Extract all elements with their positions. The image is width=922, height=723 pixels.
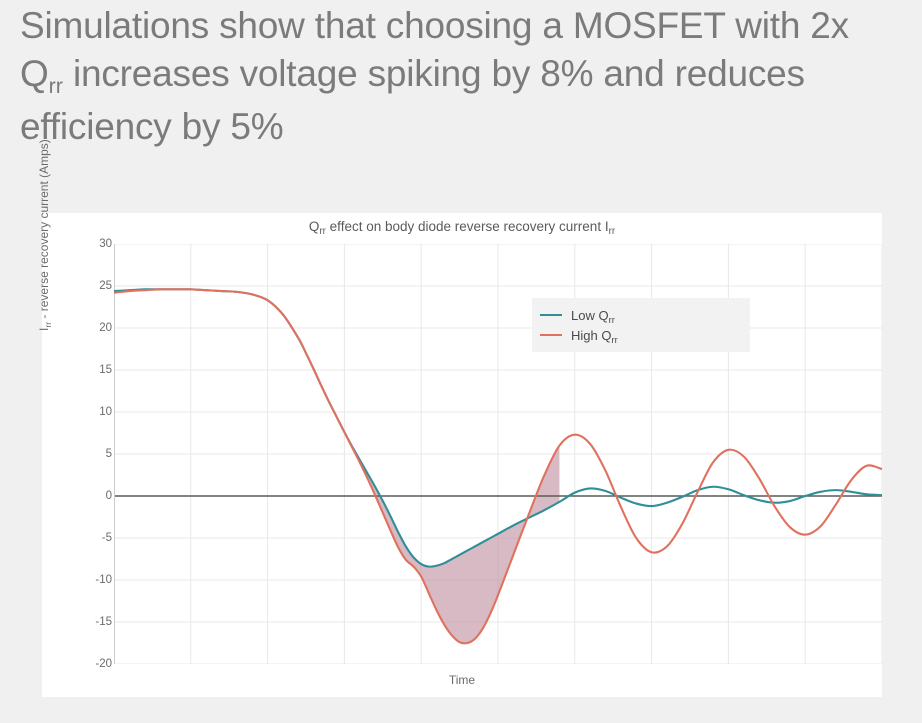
chart-title-part-1: Q xyxy=(309,219,320,234)
y-tick-label: 0 xyxy=(70,490,112,502)
y-axis-label-subscript-rr: rr xyxy=(43,322,53,328)
chart-title-subscript-rr-1: rr xyxy=(319,226,325,237)
y-tick-label: 10 xyxy=(70,406,112,418)
y-tick-label: -10 xyxy=(70,574,112,586)
page-title: Simulations show that choosing a MOSFET … xyxy=(20,2,900,151)
legend-swatch-low-qrr xyxy=(540,314,562,316)
legend-label-high-qrr-subscript: rr xyxy=(611,335,617,345)
chart-title: Qrr effect on body diode reverse recover… xyxy=(42,219,882,234)
headline-text-part-2: increases voltage spiking by 8% and redu… xyxy=(20,53,805,147)
y-axis-label: Irr - reverse recovery current (Amps) xyxy=(37,31,51,331)
legend-item-low-qrr[interactable]: Low Qrr xyxy=(540,305,740,325)
y-tick-label: -15 xyxy=(70,616,112,628)
chart-title-subscript-rr-2: rr xyxy=(609,226,615,237)
plot-area xyxy=(114,244,882,664)
chart-card: Qrr effect on body diode reverse recover… xyxy=(42,213,882,697)
y-axis-tick-labels: 302520151050-5-10-15-20 xyxy=(62,213,112,697)
legend-label-low-qrr-subscript: rr xyxy=(609,315,615,325)
chart-title-part-2: effect on body diode reverse recovery cu… xyxy=(326,219,609,234)
y-tick-label: 20 xyxy=(70,322,112,334)
legend-label-low-qrr: Low Qrr xyxy=(571,308,615,323)
y-axis-label-part-1: I xyxy=(37,328,51,331)
y-axis-label-part-2: - reverse recovery current (Amps) xyxy=(37,139,51,322)
legend-label-low-qrr-text: Low Q xyxy=(571,308,609,323)
y-tick-label: 5 xyxy=(70,448,112,460)
legend-item-high-qrr[interactable]: High Qrr xyxy=(540,325,740,345)
y-tick-label: -20 xyxy=(70,658,112,670)
legend-swatch-high-qrr xyxy=(540,334,562,336)
y-tick-label: 30 xyxy=(70,238,112,250)
legend-label-high-qrr: High Qrr xyxy=(571,328,618,343)
y-tick-label: 15 xyxy=(70,364,112,376)
x-axis-label: Time xyxy=(42,673,882,687)
chart-legend: Low Qrr High Qrr xyxy=(532,298,750,352)
y-tick-label: -5 xyxy=(70,532,112,544)
y-tick-label: 25 xyxy=(70,280,112,292)
legend-label-high-qrr-text: High Q xyxy=(571,328,611,343)
